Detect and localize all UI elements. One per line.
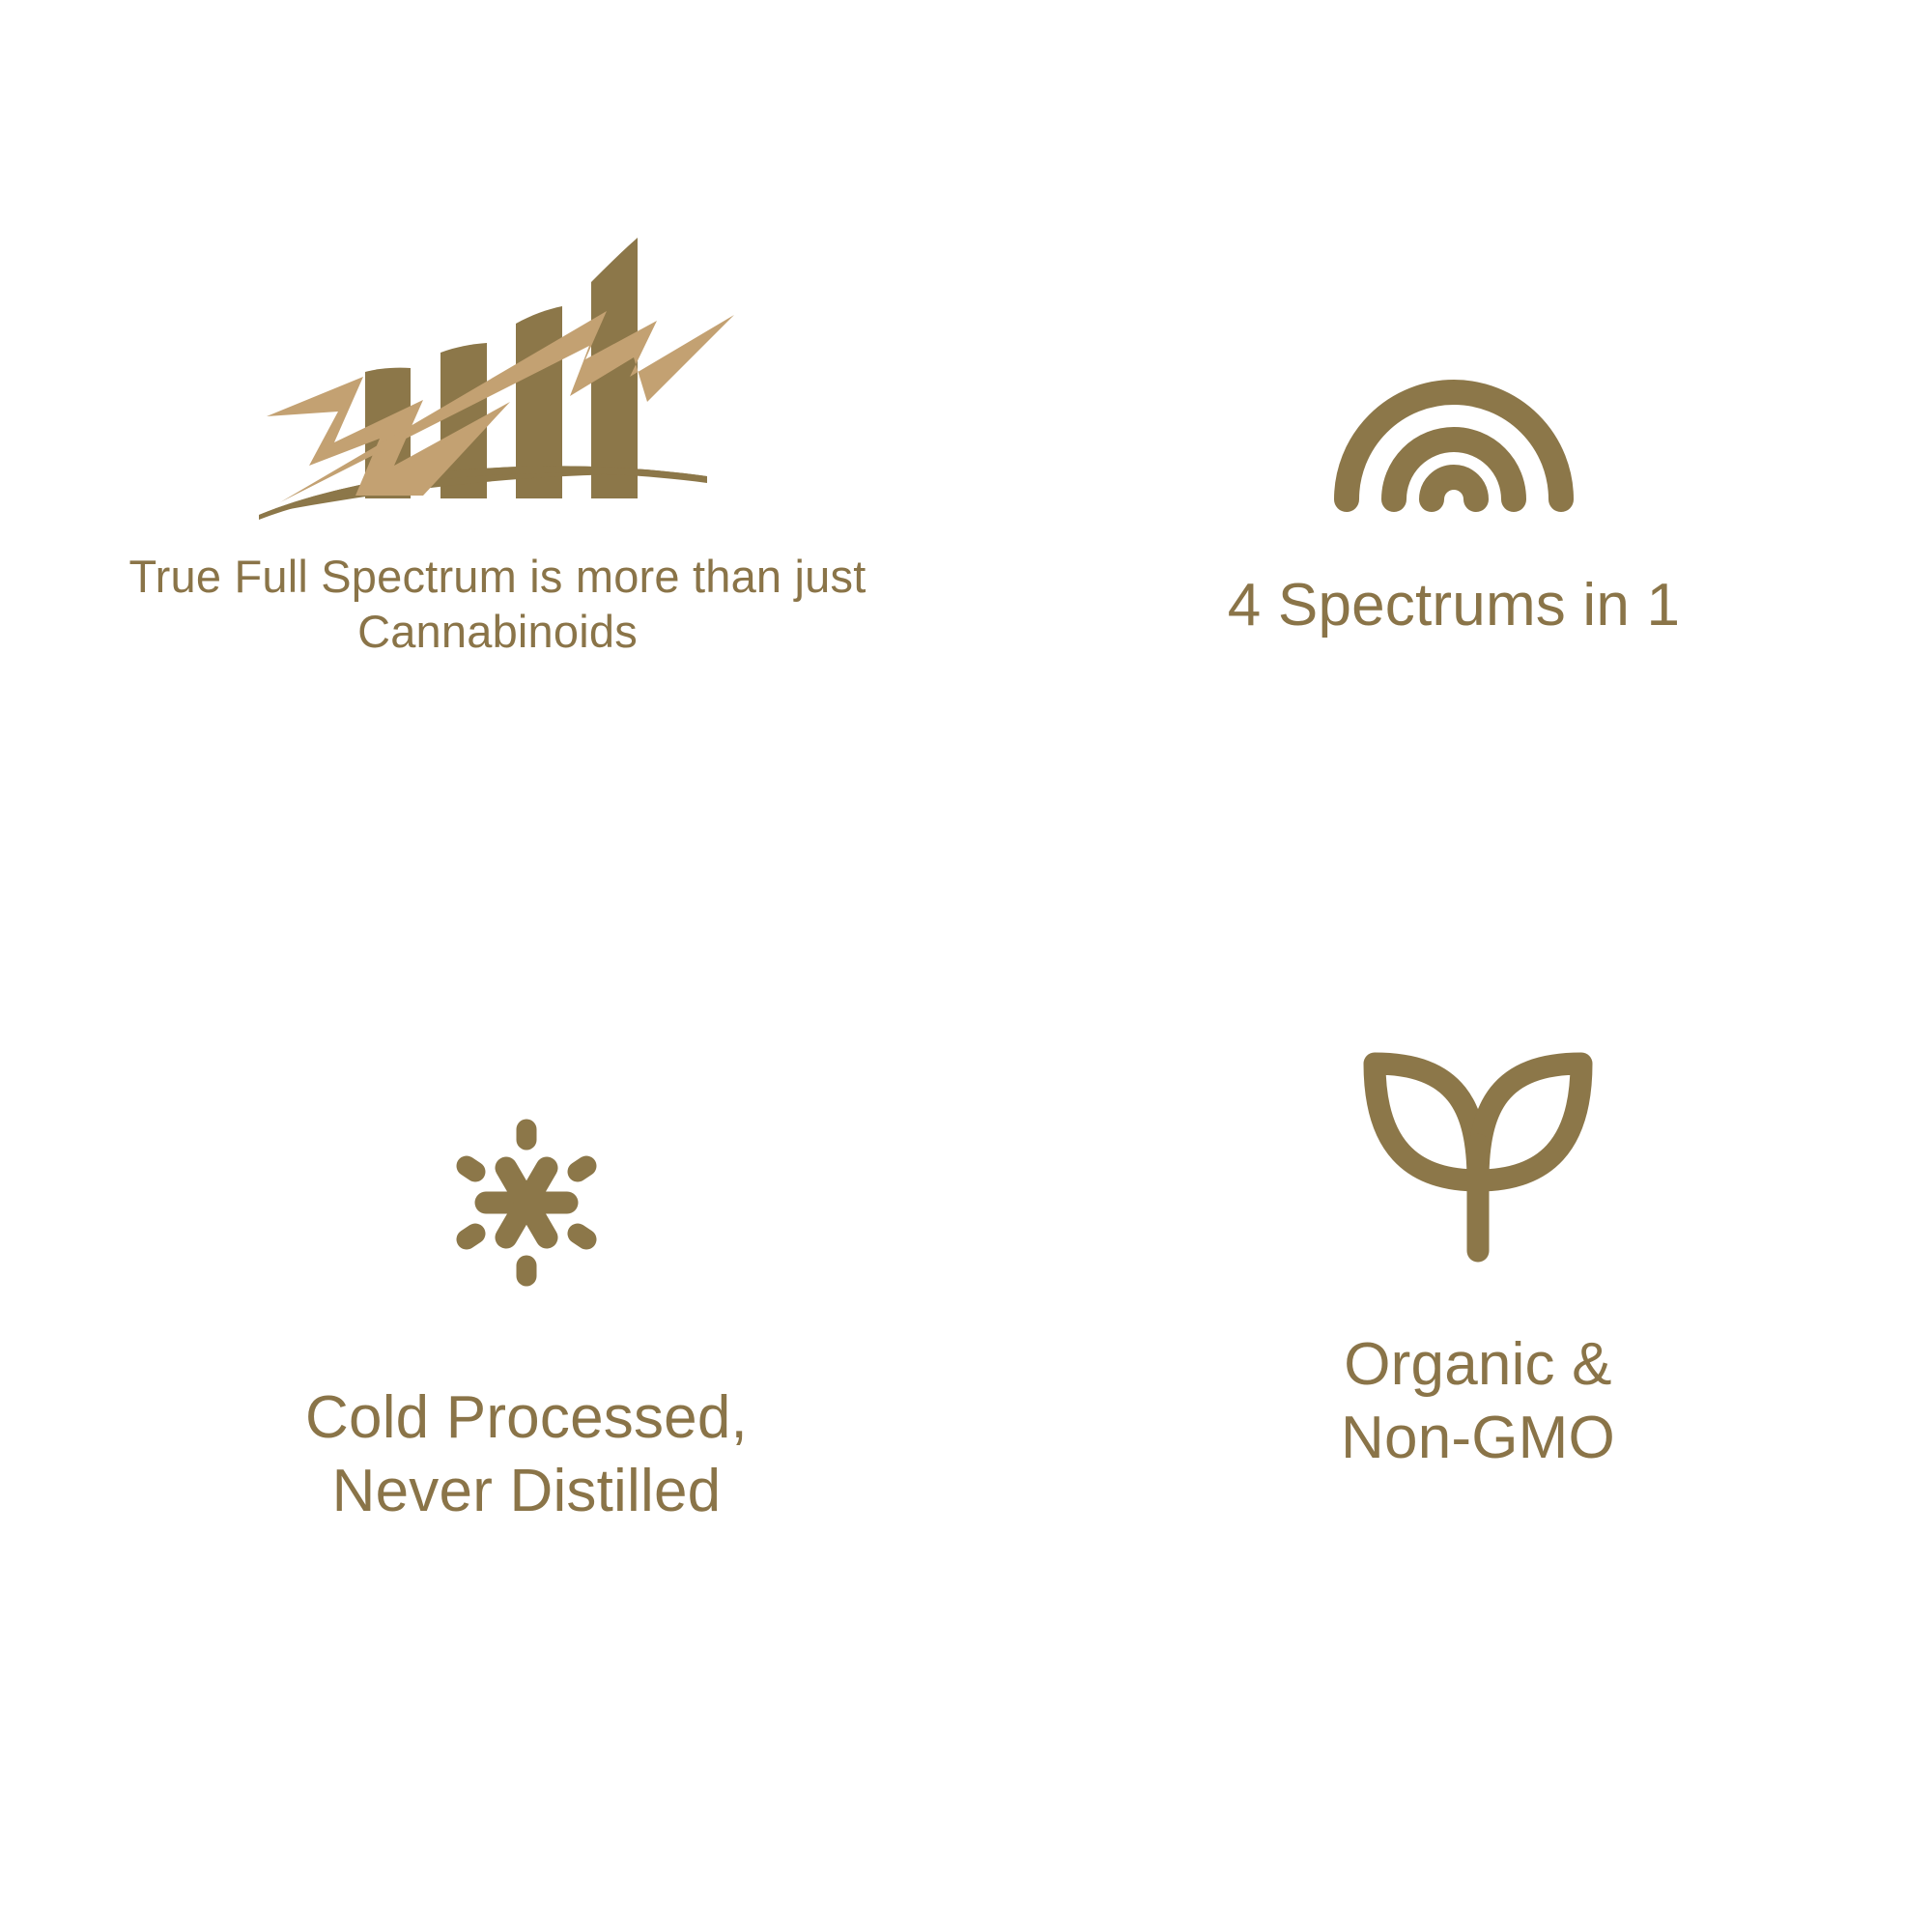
- growth-bar-chart-arrow-icon: [251, 222, 744, 522]
- benefit-item-organic-non-gmo: Organic & Non-GMO: [966, 966, 1932, 1893]
- benefit-label: Cold Processed, Never Distilled: [305, 1381, 748, 1527]
- benefit-label: Organic & Non-GMO: [1341, 1328, 1615, 1474]
- benefit-label: 4 Spectrums in 1: [1228, 570, 1680, 640]
- benefit-item-true-full-spectrum: True Full Spectrum is more than just Can…: [0, 39, 966, 966]
- sprout-leaf-icon: [1357, 1048, 1599, 1270]
- benefit-label: True Full Spectrum is more than just Can…: [111, 549, 884, 660]
- snowflake-asterisk-icon: [440, 1116, 613, 1290]
- benefit-item-cold-processed: Cold Processed, Never Distilled: [0, 966, 966, 1893]
- benefits-grid: True Full Spectrum is more than just Can…: [0, 0, 1932, 1932]
- benefit-item-four-spectrums: 4 Spectrums in 1: [966, 39, 1932, 966]
- concentric-arcs-rainbow-icon: [1322, 377, 1585, 514]
